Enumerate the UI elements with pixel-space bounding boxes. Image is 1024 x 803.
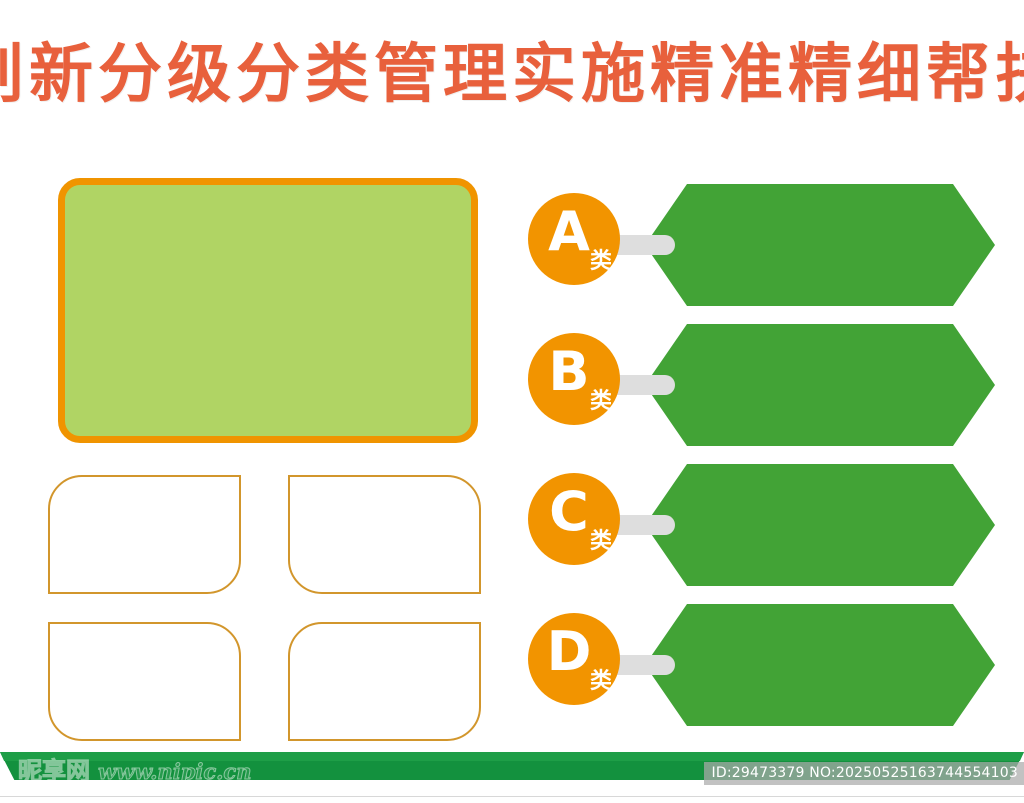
asset-id-label: ID:29473379 NO:20250525163744554103: [704, 762, 1024, 785]
category-badge-a-suffix: 类: [590, 251, 612, 273]
category-badge-a[interactable]: A 类: [528, 193, 620, 285]
sub-box-2[interactable]: [288, 475, 481, 594]
left-panel: [48, 178, 478, 743]
category-banner-b[interactable]: [645, 324, 995, 446]
category-badge-d-suffix: 类: [590, 671, 612, 693]
title-segment-2: 实施精准精细帮扶: [512, 43, 1024, 107]
sub-box-3[interactable]: [48, 622, 241, 741]
category-badge-b-suffix: 类: [590, 391, 612, 413]
category-badge-b[interactable]: B 类: [528, 333, 620, 425]
category-row-b[interactable]: B 类: [510, 324, 1010, 448]
category-banner-d[interactable]: [645, 604, 995, 726]
category-list: A 类 B 类 C 类: [510, 178, 1010, 743]
category-row-c[interactable]: C 类: [510, 464, 1010, 588]
category-row-a[interactable]: A 类: [510, 184, 1010, 308]
category-badge-c[interactable]: C 类: [528, 473, 620, 565]
main-content-box[interactable]: [58, 178, 478, 443]
sub-box-4[interactable]: [288, 622, 481, 741]
watermark-site-url: www.nipic.cn: [98, 760, 252, 783]
title-segment-1: 创新分级分类管理: [0, 43, 512, 107]
category-badge-d[interactable]: D 类: [528, 613, 620, 705]
category-banner-c[interactable]: [645, 464, 995, 586]
bottom-divider: [0, 796, 1024, 797]
sub-box-1[interactable]: [48, 475, 241, 594]
poster-title: 创新分级分类管理 实施精准精细帮扶: [0, 34, 1024, 116]
category-badge-c-suffix: 类: [590, 531, 612, 553]
category-row-d[interactable]: D 类: [510, 604, 1010, 728]
site-watermark: 昵享网 www.nipic.cn: [18, 758, 252, 784]
watermark-site-name: 昵享网: [18, 758, 90, 784]
poster-canvas: 创新分级分类管理 实施精准精细帮扶 A: [0, 0, 1024, 803]
category-banner-a[interactable]: [645, 184, 995, 306]
